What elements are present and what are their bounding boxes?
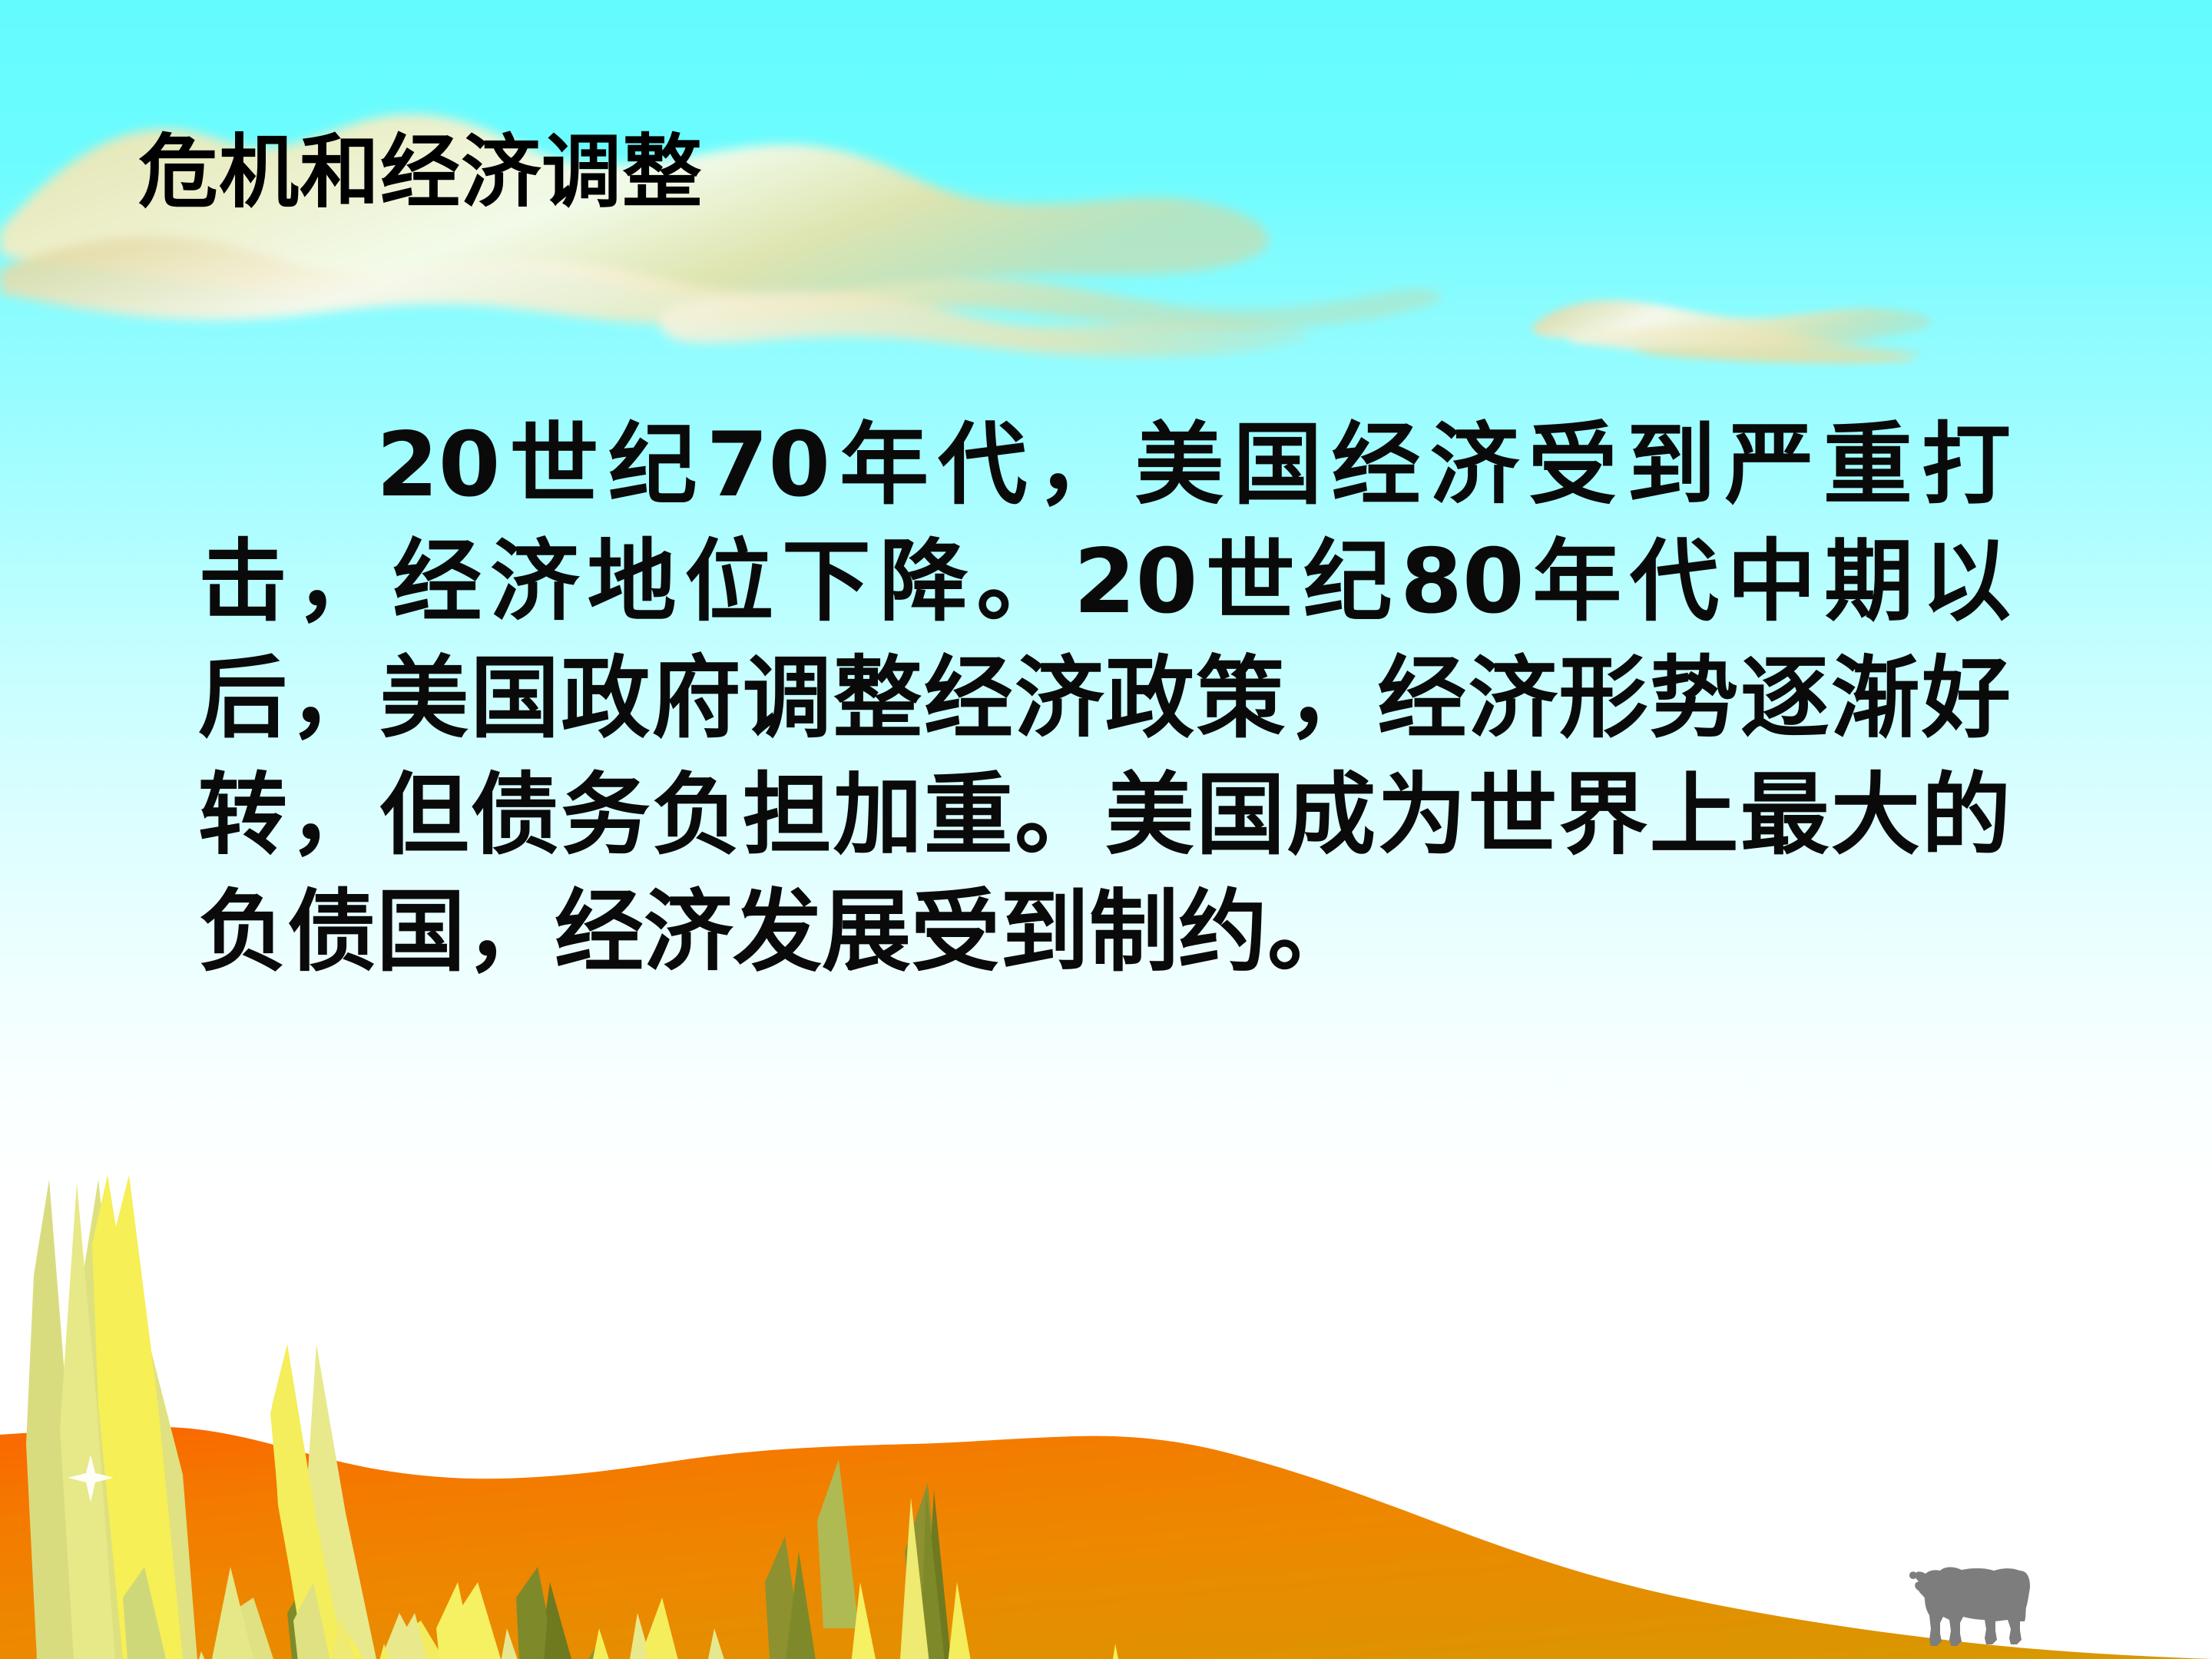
cow-silhouette [1909,1567,2030,1646]
slide-body-paragraph: 20世纪70年代，美国经济受到严重打击，经济地位下降。20世纪80年代中期以后，… [198,407,2011,991]
slide-title: 危机和经济调整 [138,129,1367,215]
cloud-wisp-right [1532,300,1932,364]
grass-layer [0,1152,2212,1659]
slide-canvas: 危机和经济调整 20世纪70年代，美国经济受到严重打击，经济地位下降。20世纪8… [0,0,2212,1659]
grass-blades [26,1175,1134,1659]
cow-silhouette-wrapper [1905,1532,2135,1659]
